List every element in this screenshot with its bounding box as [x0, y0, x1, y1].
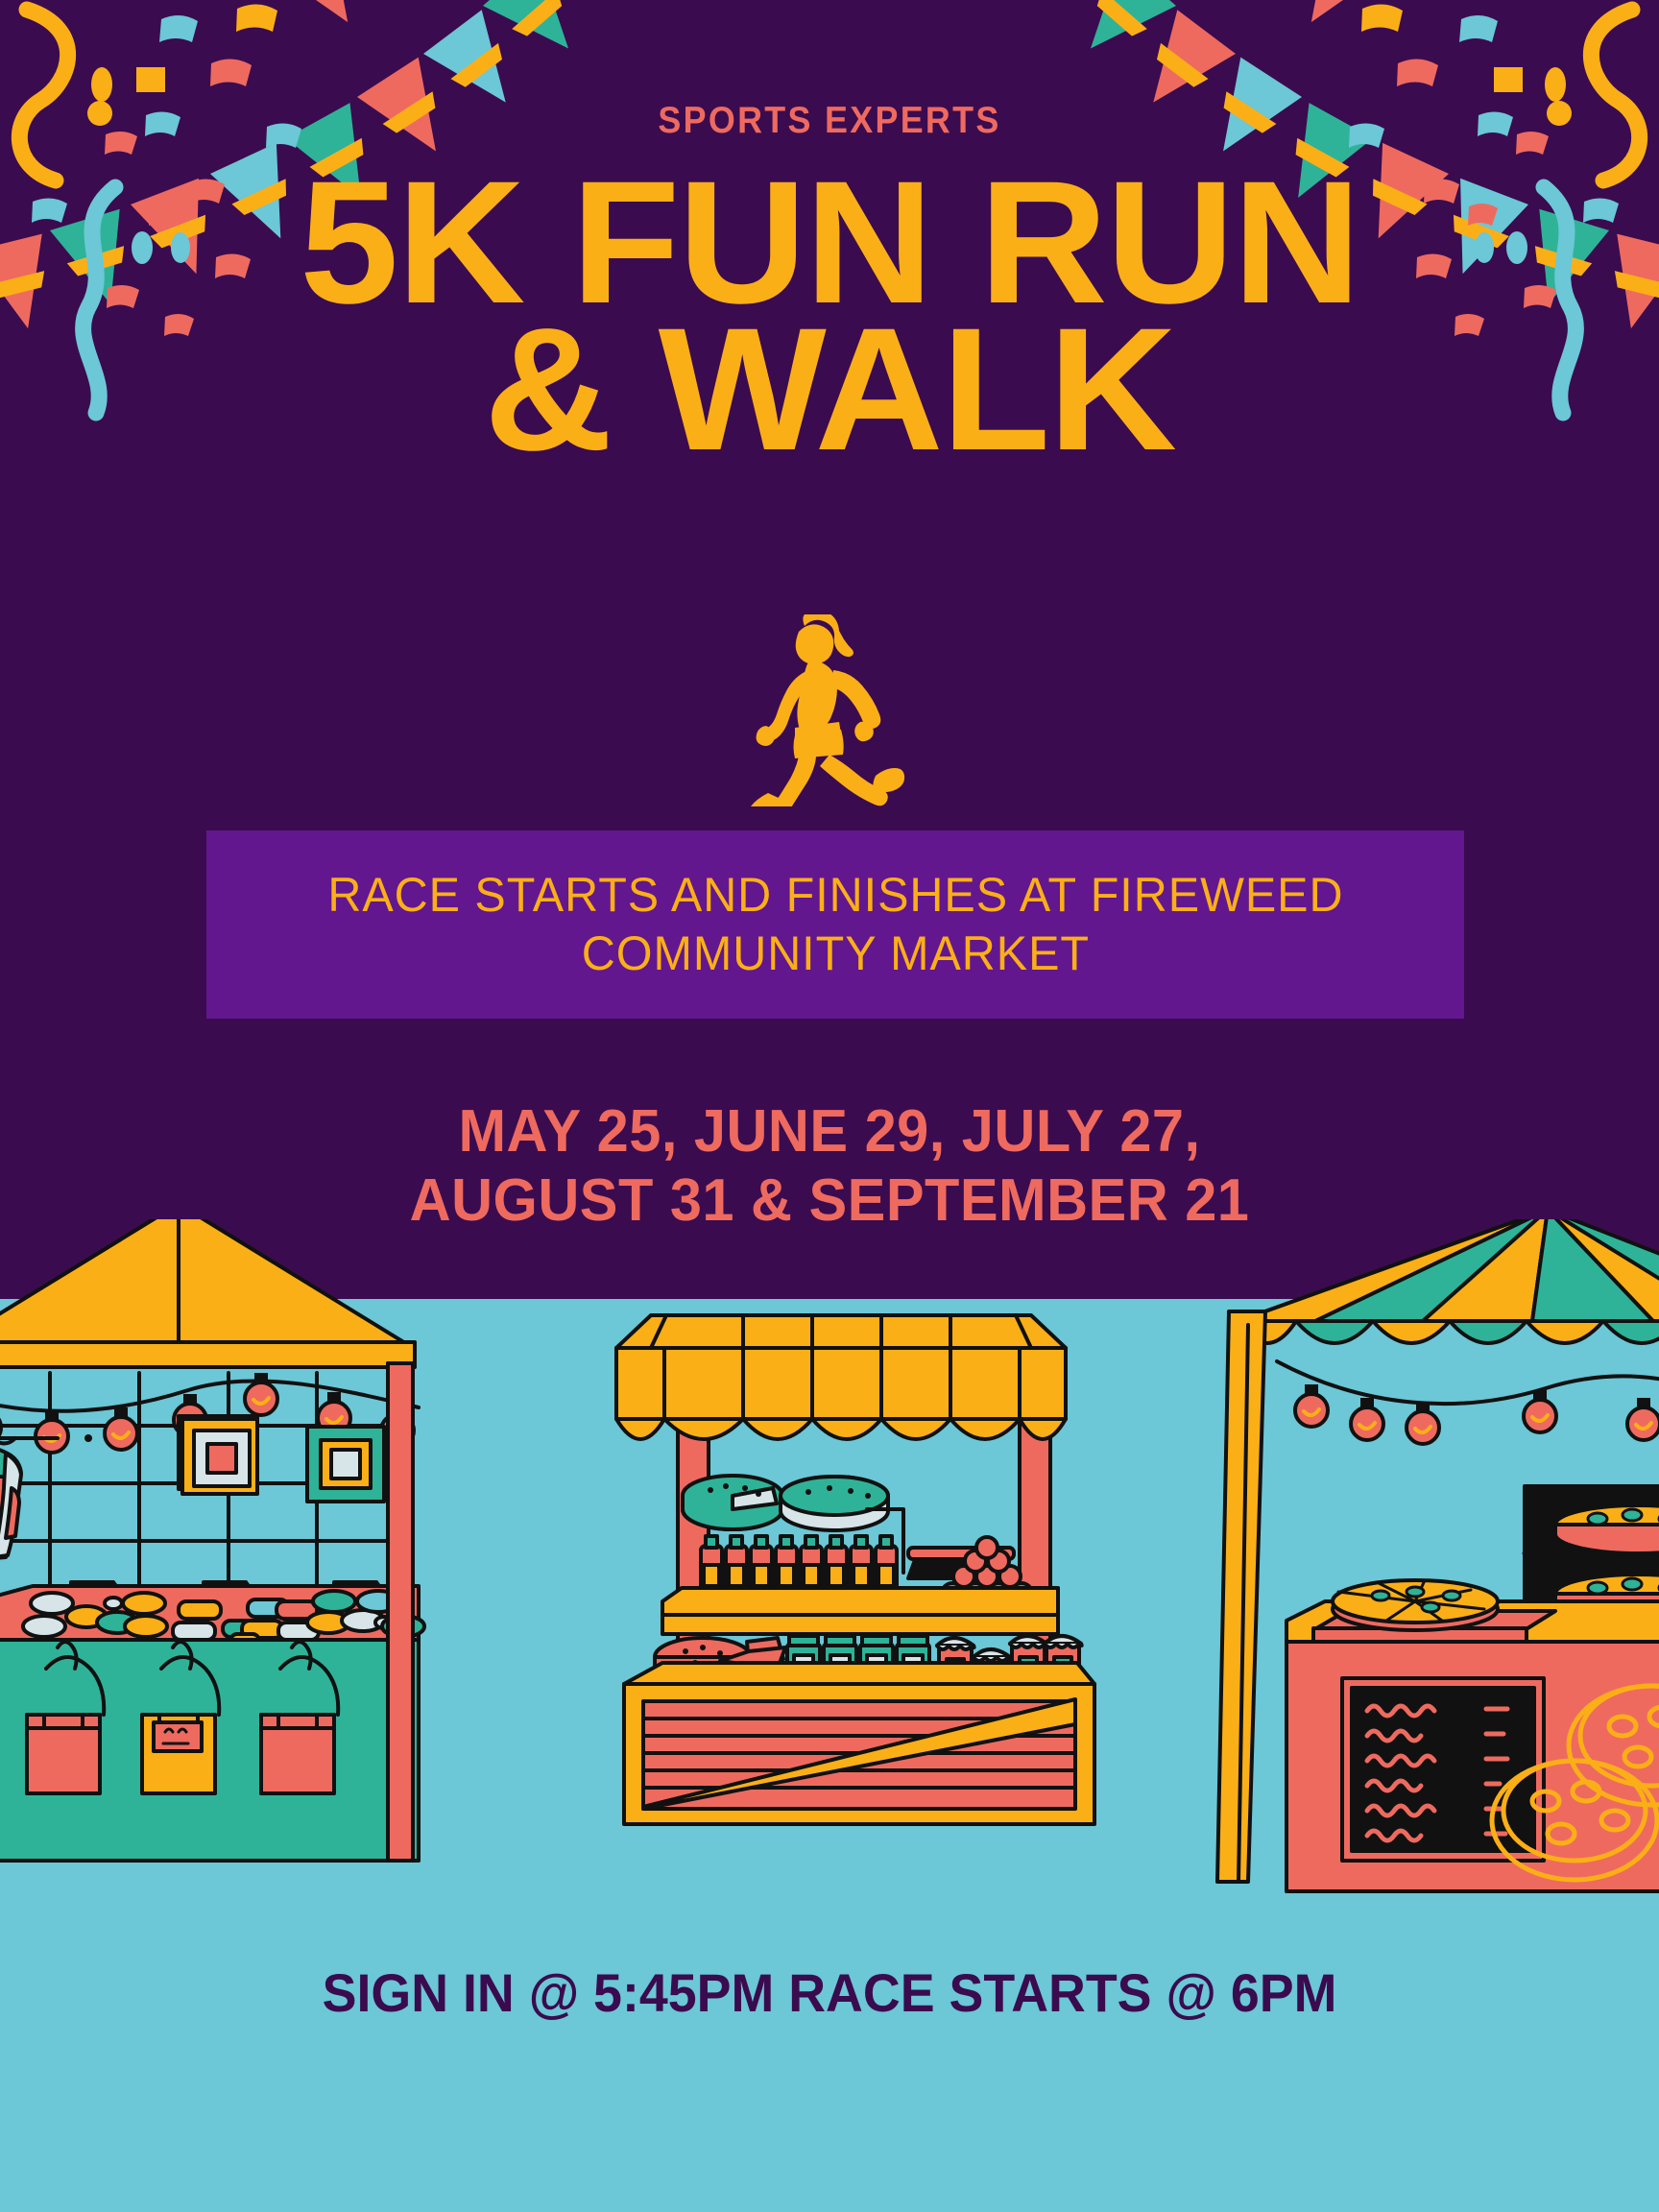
location-banner-text: RACE STARTS AND FINISHES AT FIREWEED COM…	[327, 866, 1343, 983]
poster-root: SPORTS EXPERTS 5K FUN RUN & WALK	[0, 0, 1659, 2212]
banner-line-1: RACE STARTS AND FINISHES AT FIREWEED	[327, 866, 1343, 925]
banner-line-2: COMMUNITY MARKET	[327, 925, 1343, 983]
title-line-2: & WALK	[0, 316, 1659, 463]
page-title: 5K FUN RUN & WALK	[0, 169, 1659, 463]
craft-stall	[0, 1219, 424, 1861]
location-banner: RACE STARTS AND FINISHES AT FIREWEED COM…	[206, 830, 1464, 1019]
signin-time-text: SIGN IN @ 5:45PM RACE STARTS @ 6PM	[34, 1961, 1626, 2024]
pizza-stall	[1217, 1219, 1659, 1891]
runner-icon	[741, 614, 914, 806]
page-eyebrow: SPORTS EXPERTS	[66, 100, 1593, 142]
produce-stall	[616, 1315, 1094, 1824]
event-dates: MAY 25, JUNE 29, JULY 27, AUGUST 31 & SE…	[34, 1097, 1626, 1236]
dates-line-1: MAY 25, JUNE 29, JULY 27,	[34, 1097, 1626, 1166]
market-illustration	[0, 1219, 1659, 1968]
